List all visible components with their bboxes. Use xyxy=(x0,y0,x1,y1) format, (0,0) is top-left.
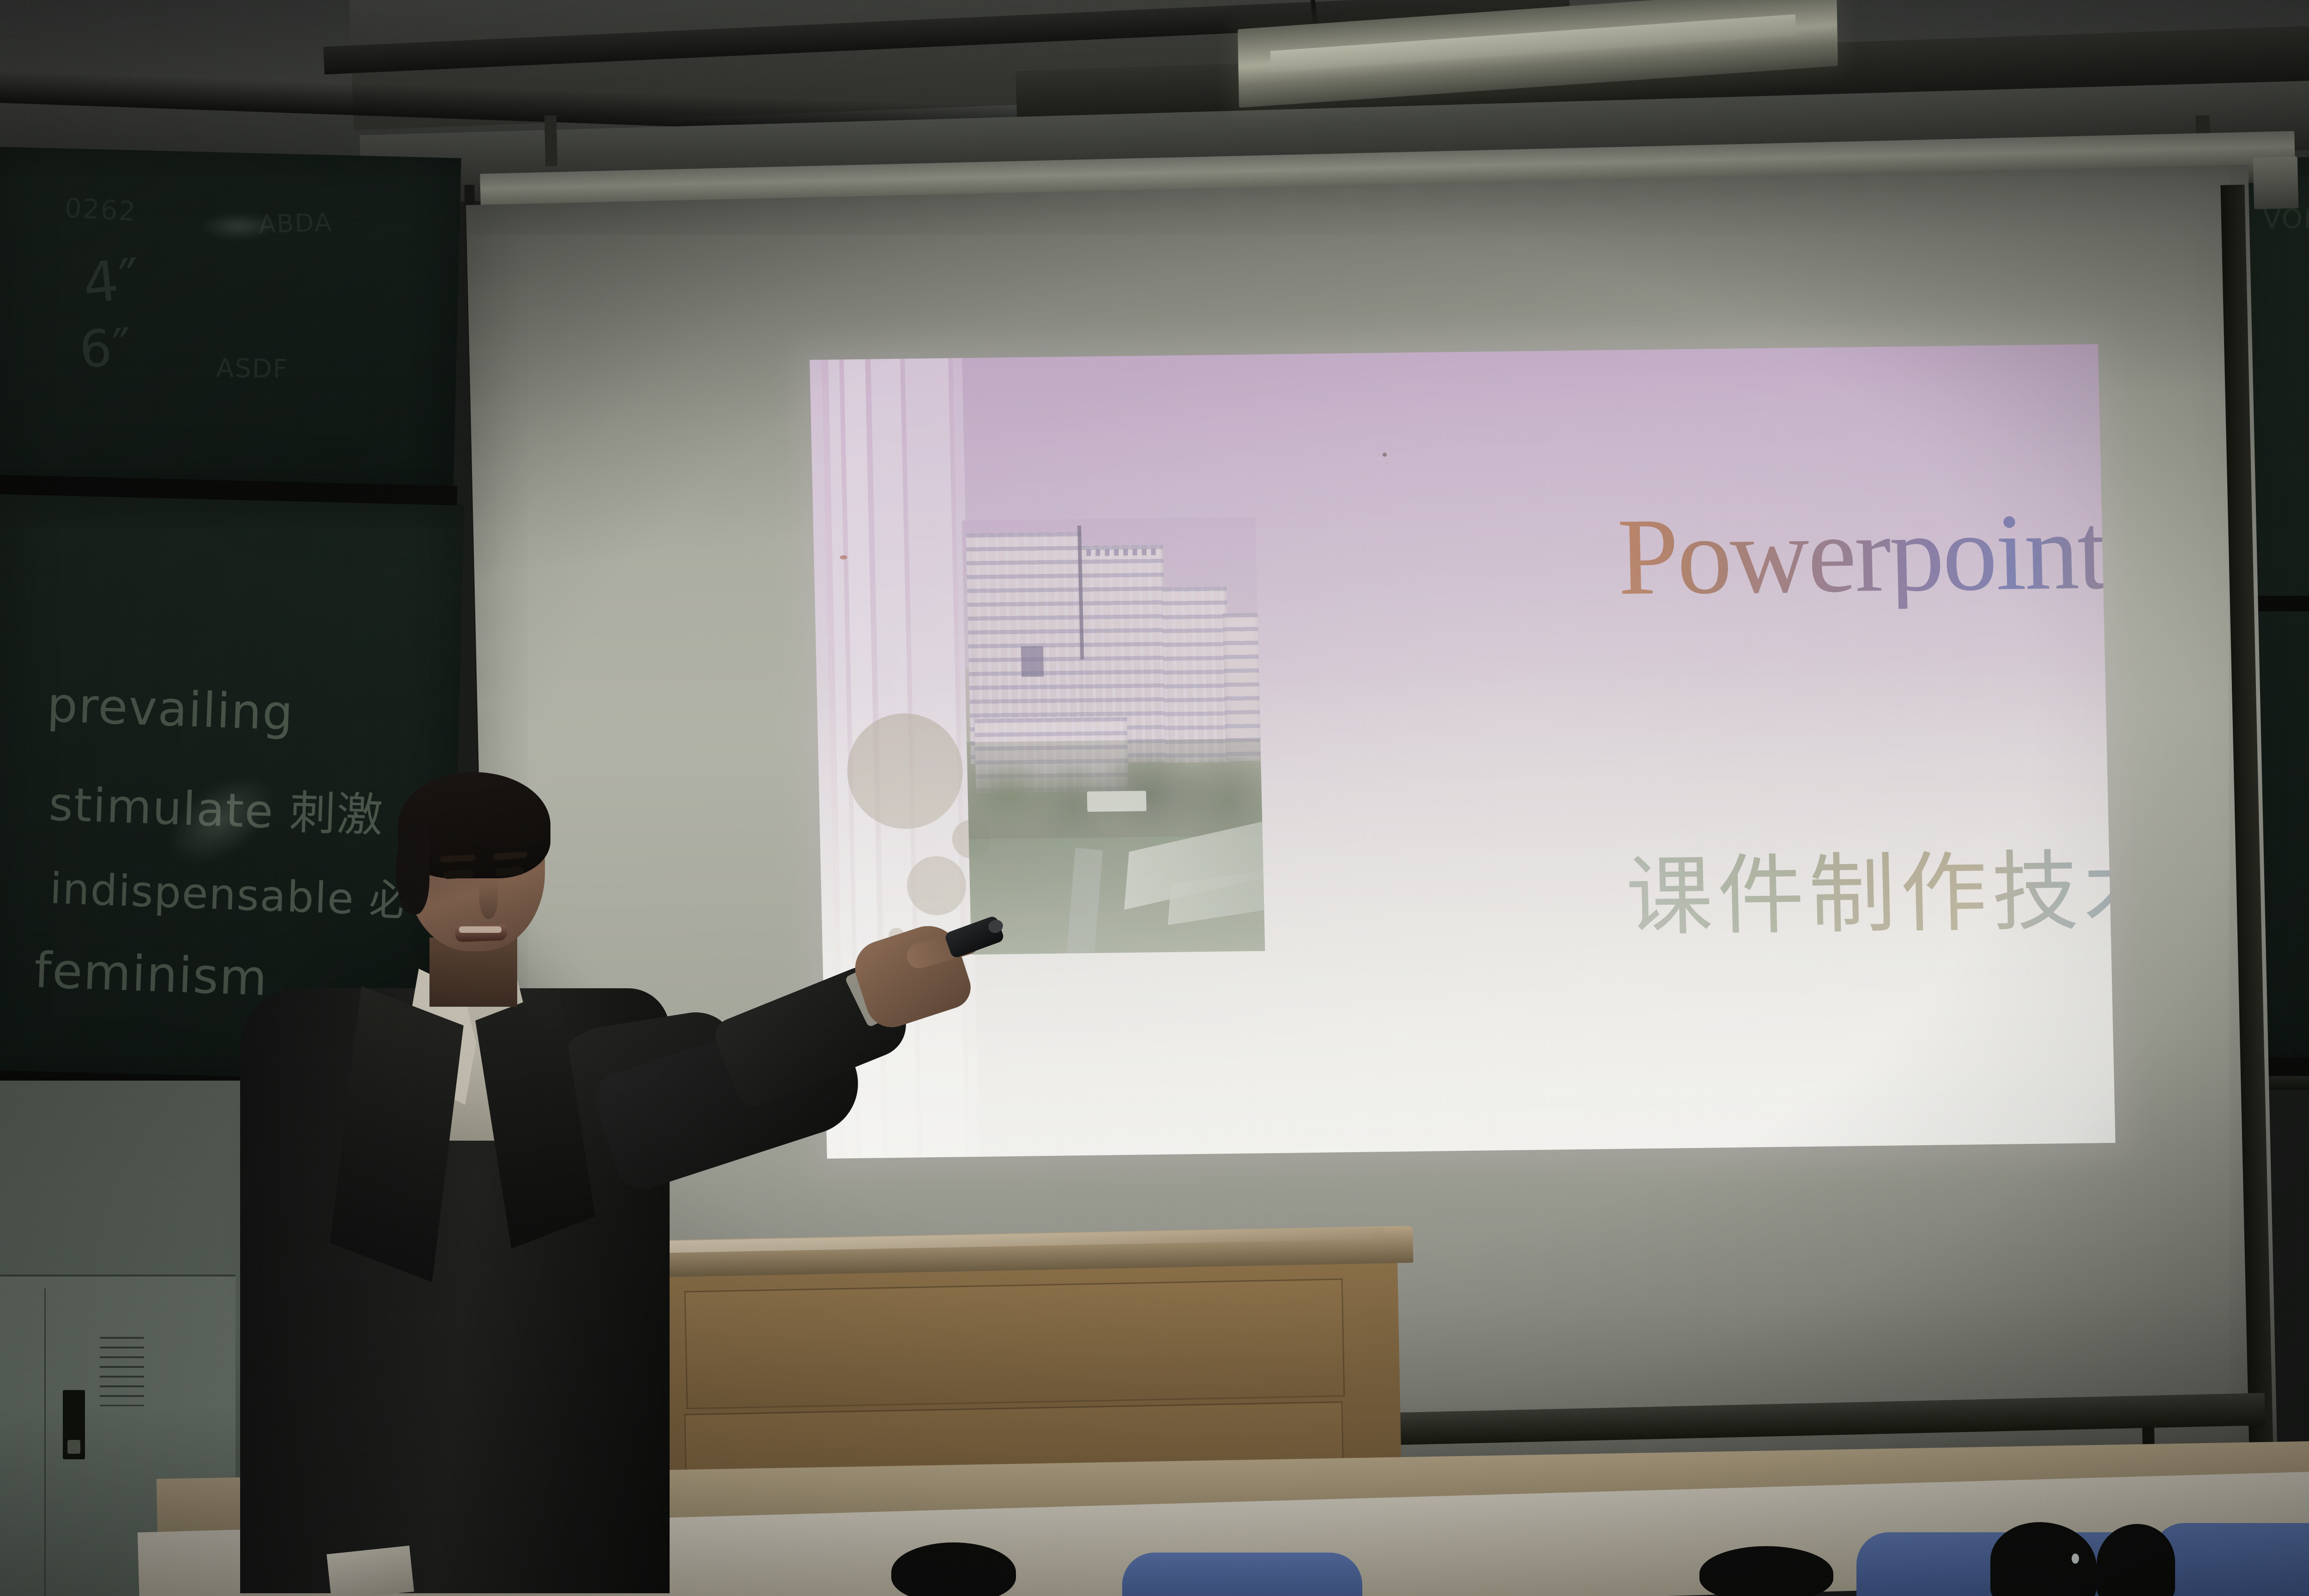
slide-light-falloff xyxy=(810,344,2116,1159)
projected-slide: Powerpoint 课件制作技术 xyxy=(810,344,2116,1159)
audience-glasses-glint xyxy=(2072,1554,2079,1564)
cabinet-vent-icon xyxy=(100,1337,144,1406)
podium-panel xyxy=(684,1278,1345,1409)
presenter-teeth xyxy=(459,926,502,933)
classroom-scene: 0262 ABDA ASDF 4″ 6″ prevailing stimulat… xyxy=(0,0,2309,1596)
audience-head xyxy=(1699,1546,1833,1596)
chalk-smudge xyxy=(199,212,278,240)
chalk-mark: 0262 xyxy=(64,192,137,227)
audience-chair xyxy=(1122,1553,1362,1596)
audience-chair xyxy=(2152,1523,2309,1596)
chalk-mark: ASDF xyxy=(216,353,289,385)
cabinet-seam xyxy=(44,1288,46,1596)
screen-roller-endcap xyxy=(2253,157,2299,209)
paper-sheet xyxy=(326,1546,414,1596)
chalk-line: prevailing xyxy=(46,677,295,742)
presenter-eye xyxy=(443,869,474,879)
presenter-hair xyxy=(396,827,429,914)
chalk-scribble: 6″ xyxy=(78,317,135,380)
screen-bracket xyxy=(544,115,557,167)
cabinet-latch-icon[interactable] xyxy=(67,1440,80,1454)
light-tube xyxy=(1270,14,1796,73)
presenter-nose xyxy=(479,879,498,919)
chalk-scribble: 4″ xyxy=(80,247,144,316)
